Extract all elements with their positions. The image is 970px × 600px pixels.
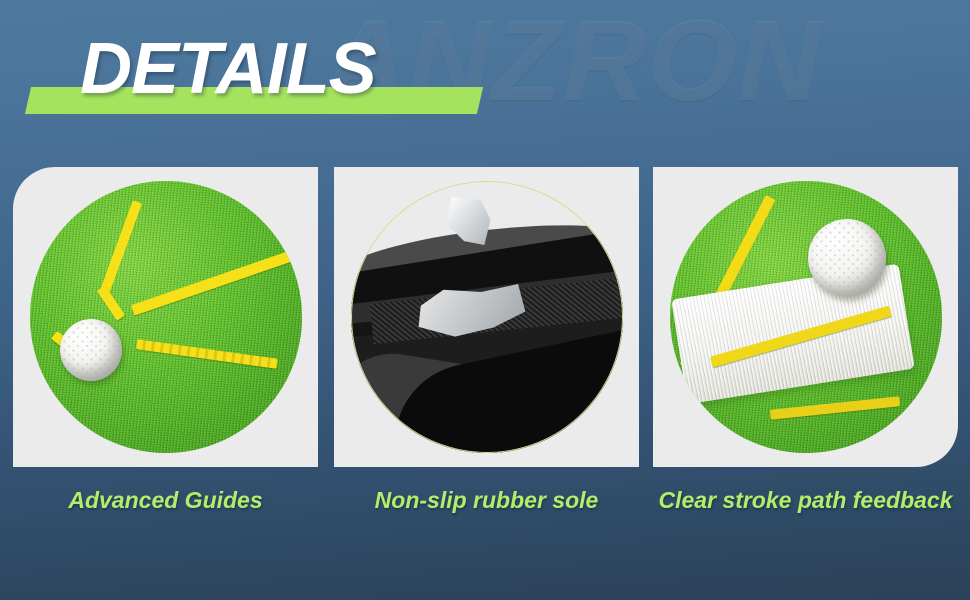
details-banner-page: ANZRON DETAILS: [0, 0, 970, 600]
photo-advanced-guides: [30, 181, 302, 453]
feature-captions-row: Advanced Guides Non-slip rubber sole Cle…: [0, 483, 970, 573]
feature-cards-row: [0, 167, 970, 467]
page-title: DETAILS: [80, 28, 376, 110]
caption-advanced-guides: Advanced Guides: [13, 483, 318, 517]
photo-stroke-path-feedback: [670, 181, 942, 453]
page-header: DETAILS: [0, 0, 970, 150]
feature-card-non-slip-rubber-sole[interactable]: [334, 167, 639, 467]
turf-texture: [30, 181, 302, 453]
feature-card-advanced-guides[interactable]: [13, 167, 318, 467]
golf-ball: [60, 319, 122, 381]
photo-ring-outline: [351, 181, 623, 453]
photo-non-slip-rubber-sole: [351, 181, 623, 453]
caption-non-slip-rubber-sole: Non-slip rubber sole: [334, 483, 639, 517]
feature-card-clear-stroke-path-feedback[interactable]: [653, 167, 958, 467]
golf-ball: [808, 219, 886, 297]
caption-clear-stroke-path-feedback: Clear stroke path feedback: [653, 483, 958, 517]
